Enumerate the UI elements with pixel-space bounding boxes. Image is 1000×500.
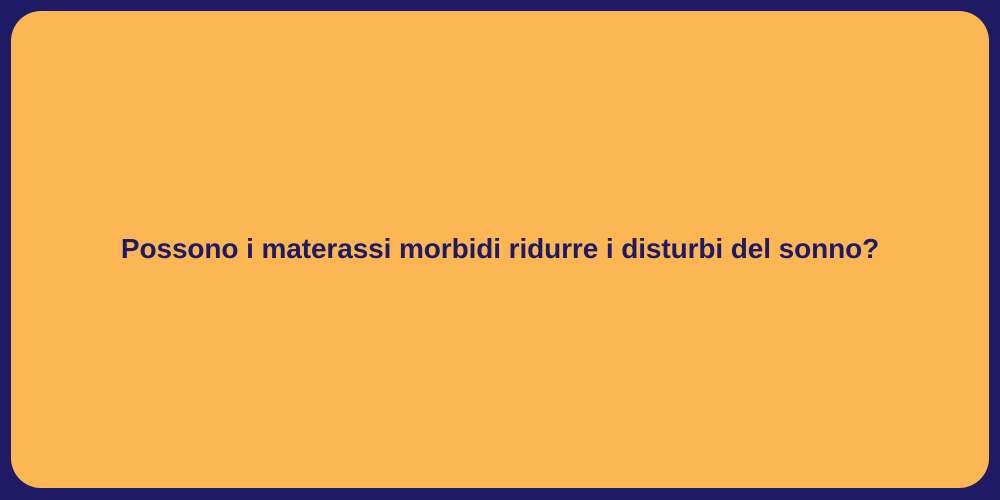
card-frame: Possono i materassi morbidi ridurre i di… xyxy=(0,0,1000,500)
page-title: Possono i materassi morbidi ridurre i di… xyxy=(121,231,879,267)
question-card-panel: Possono i materassi morbidi ridurre i di… xyxy=(11,11,989,488)
